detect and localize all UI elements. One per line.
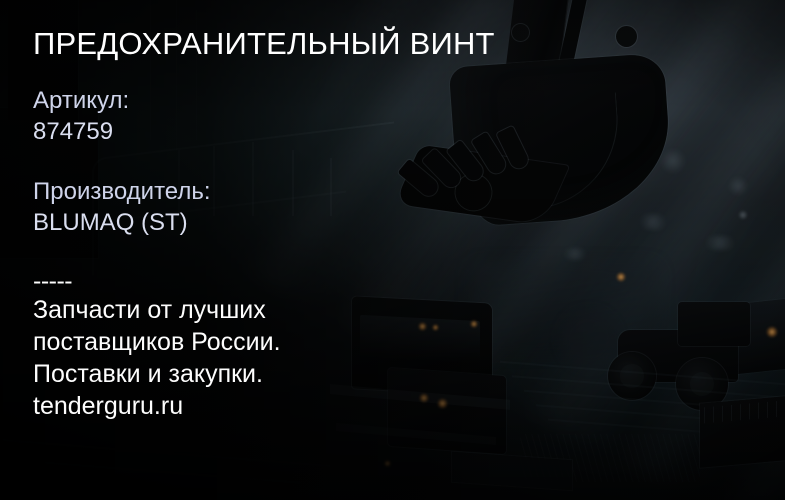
product-title: ПРЕДОХРАНИТЕЛЬНЫЙ ВИНТ	[33, 25, 495, 63]
article-value: 874759	[33, 116, 129, 147]
card-content: ПРЕДОХРАНИТЕЛЬНЫЙ ВИНТ Артикул: 874759 П…	[33, 0, 785, 500]
footer-line-2: поставщиков России.	[33, 326, 281, 358]
footer-line-3: Поставки и закупки.	[33, 358, 281, 390]
manufacturer-label: Производитель:	[33, 176, 211, 207]
product-card: ПРЕДОХРАНИТЕЛЬНЫЙ ВИНТ Артикул: 874759 П…	[0, 0, 785, 500]
article-label: Артикул:	[33, 85, 129, 116]
footer-website: tenderguru.ru	[33, 390, 281, 422]
footer-separator: -----	[33, 268, 281, 294]
footer-line-1: Запчасти от лучших	[33, 294, 281, 326]
article-field: Артикул: 874759	[33, 85, 129, 147]
manufacturer-field: Производитель: BLUMAQ (ST)	[33, 176, 211, 238]
manufacturer-value: BLUMAQ (ST)	[33, 207, 211, 238]
footer-block: ----- Запчасти от лучших поставщиков Рос…	[33, 268, 281, 422]
